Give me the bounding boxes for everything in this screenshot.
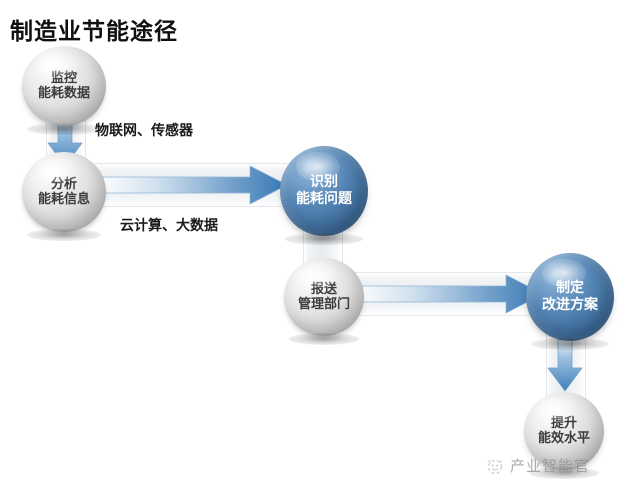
arrow-down-plan-to-improve [545, 338, 585, 394]
edge-label-cloud-bigdata: 云计算、大数据 [120, 215, 218, 235]
arrow-right-analyze-to-identify [100, 162, 290, 208]
arrow-right-report-to-plan [356, 271, 546, 317]
diagram-canvas: 制造业节能途径 [0, 0, 640, 493]
watermark: 产业智能官 [485, 455, 590, 476]
node-monitor-line2: 能耗数据 [38, 86, 90, 101]
node-report[interactable]: 报送 管理部门 [284, 258, 364, 336]
edge-label-iot-sensor: 物联网、传感器 [95, 120, 193, 140]
page-title: 制造业节能途径 [10, 12, 178, 46]
node-plan[interactable]: 制定 改进方案 [526, 253, 614, 341]
node-analyze-line2: 能耗信息 [38, 192, 90, 207]
node-improve-line2: 能效水平 [538, 431, 590, 446]
node-identify-line2: 能耗问题 [296, 191, 352, 208]
smiley-circle-icon [485, 457, 505, 475]
node-analyze[interactable]: 分析 能耗信息 [22, 152, 106, 232]
node-report-line1: 报送 [311, 282, 337, 297]
node-improve-line1: 提升 [551, 416, 577, 431]
watermark-text: 产业智能官 [510, 455, 590, 476]
node-identify[interactable]: 识别 能耗问题 [280, 146, 368, 236]
node-identify-line1: 识别 [310, 174, 338, 191]
node-monitor[interactable]: 监控 能耗数据 [22, 46, 106, 126]
node-monitor-line1: 监控 [51, 71, 77, 86]
node-analyze-line1: 分析 [51, 177, 77, 192]
node-report-line2: 管理部门 [298, 297, 350, 312]
node-plan-line1: 制定 [556, 280, 584, 297]
node-plan-line2: 改进方案 [542, 297, 598, 314]
